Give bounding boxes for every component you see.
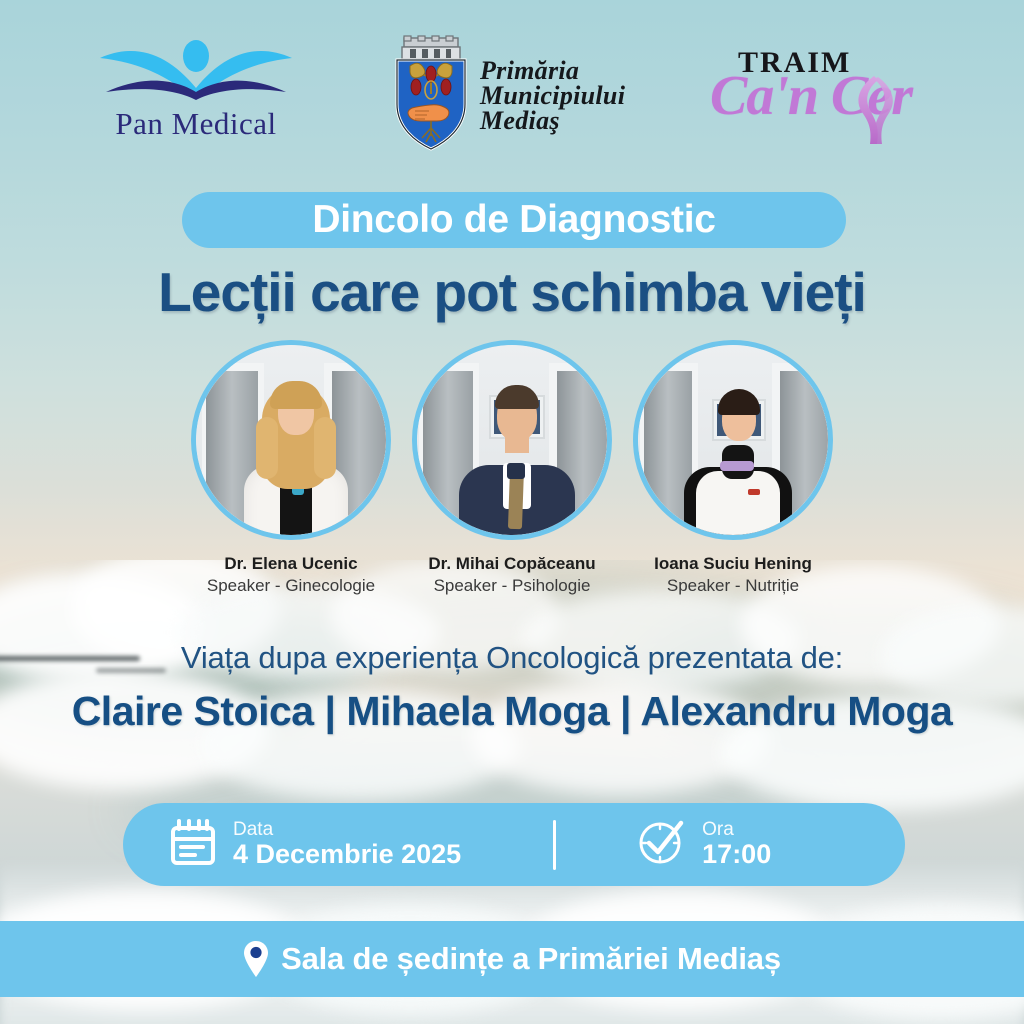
- presenters-names: Claire Stoica | Mihaela Moga | Alexandru…: [0, 688, 1024, 735]
- date-texts: Data 4 Decembrie 2025: [233, 820, 461, 869]
- banner-title: Dincolo de Diagnostic: [312, 198, 715, 242]
- city-line-1: Primăria: [480, 58, 625, 83]
- speaker-role: Speaker - Nutriție: [622, 576, 844, 596]
- pan-medical-logo: Pan Medical: [96, 40, 296, 150]
- speaker-photo-ioana-suciu-hening: [633, 340, 833, 540]
- banner-pill: Dincolo de Diagnostic: [182, 192, 846, 248]
- pan-medical-wordmark: Pan Medical: [96, 106, 296, 142]
- speakers-row: Dr. Elena Ucenic Speaker - Ginecologie: [0, 340, 1024, 610]
- speaker-name: Dr. Mihai Copăceanu: [401, 554, 623, 574]
- presenters-intro: Viața dupa experiența Oncologică prezent…: [0, 640, 1024, 676]
- medias-city-hall-logo: Primăria Municipiului Mediaş: [388, 32, 648, 160]
- time-label: Ora: [702, 820, 771, 840]
- speaker-photo-mihai-copaceanu: [412, 340, 612, 540]
- clock-check-icon: [636, 817, 686, 872]
- date-time-bar: Data 4 Decembrie 2025 Ora 17:00: [123, 803, 905, 886]
- pink-ribbon-icon: [844, 74, 908, 146]
- time-texts: Ora 17:00: [702, 820, 771, 869]
- medias-coat-of-arms-icon: [388, 32, 474, 152]
- divider: [553, 820, 556, 870]
- logo-row: Pan Medical: [0, 0, 1024, 168]
- speaker-card: Dr. Mihai Copăceanu Speaker - Psihologie: [401, 340, 623, 596]
- city-line-3: Mediaş: [480, 108, 625, 133]
- map-pin-icon: [243, 940, 269, 978]
- speaker-card: Ioana Suciu Hening Speaker - Nutriție: [622, 340, 844, 596]
- location-text: Sala de ședințe a Primăriei Mediaș: [281, 941, 781, 977]
- speaker-name: Dr. Elena Ucenic: [180, 554, 402, 574]
- speaker-role: Speaker - Ginecologie: [180, 576, 402, 596]
- city-hall-wordmark: Primăria Municipiului Mediaş: [480, 58, 625, 133]
- city-line-2: Municipiului: [480, 83, 625, 108]
- date-block: Data 4 Decembrie 2025: [169, 817, 461, 872]
- date-label: Data: [233, 820, 461, 840]
- speaker-role: Speaker - Psihologie: [401, 576, 623, 596]
- speaker-photo-elena-ucenic: [191, 340, 391, 540]
- headline-title: Lecții care pot schimba vieți: [0, 260, 1024, 324]
- location-bar: Sala de ședințe a Primăriei Mediaș: [0, 921, 1024, 997]
- speaker-name: Ioana Suciu Hening: [622, 554, 844, 574]
- speaker-card: Dr. Elena Ucenic Speaker - Ginecologie: [180, 340, 402, 596]
- date-value: 4 Decembrie 2025: [233, 840, 461, 869]
- event-poster: Pan Medical: [0, 0, 1024, 1024]
- traim-can-cer-logo: TRAIM Ca'n Cer: [716, 46, 926, 156]
- time-value: 17:00: [702, 840, 771, 869]
- calendar-icon: [169, 817, 217, 872]
- pan-medical-bird-icon: [96, 40, 296, 110]
- time-block: Ora 17:00: [636, 817, 771, 872]
